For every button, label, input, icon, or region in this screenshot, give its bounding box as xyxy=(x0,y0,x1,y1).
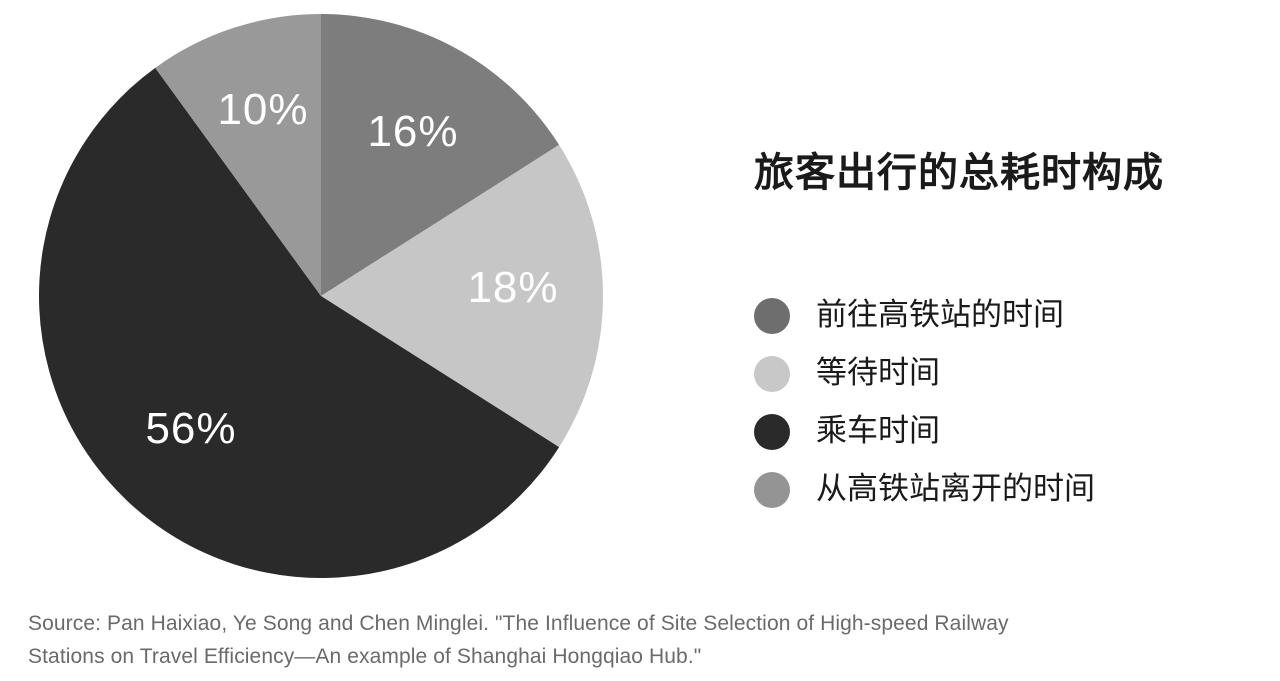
legend-item-1[interactable]: 等待时间 xyxy=(754,346,1274,401)
chart-info-panel: 旅客出行的总耗时构成 前往高铁站的时间 等待时间 乘车时间 从高铁站离开的时间 xyxy=(738,0,1280,590)
legend-label-2: 乘车时间 xyxy=(816,414,940,448)
source-line-2: Stations on Travel Efficiency—An example… xyxy=(28,641,1240,674)
chart-title: 旅客出行的总耗时构成 xyxy=(754,140,1164,198)
legend-item-3[interactable]: 从高铁站离开的时间 xyxy=(754,462,1274,517)
pie-slice-label-2: 56% xyxy=(145,404,236,453)
legend-swatch-icon-3 xyxy=(754,472,790,508)
legend-label-1: 等待时间 xyxy=(816,356,940,390)
legend-label-0: 前往高铁站的时间 xyxy=(816,298,1064,332)
pie-slice-label-1: 18% xyxy=(467,263,558,312)
pie-slice-label-3: 10% xyxy=(217,85,308,134)
pie-chart-svg: 16% 18% 56% 10% xyxy=(0,0,660,600)
chart-legend: 前往高铁站的时间 等待时间 乘车时间 从高铁站离开的时间 xyxy=(754,288,1274,520)
legend-item-2[interactable]: 乘车时间 xyxy=(754,404,1274,459)
pie-chart-figure: 16% 18% 56% 10% xyxy=(0,0,660,600)
legend-swatch-icon-1 xyxy=(754,356,790,392)
legend-swatch-icon-2 xyxy=(754,414,790,450)
source-line-1: Source: Pan Haixiao, Ye Song and Chen Mi… xyxy=(28,608,1240,641)
legend-item-0[interactable]: 前往高铁站的时间 xyxy=(754,288,1274,343)
pie-slice-label-0: 16% xyxy=(367,107,458,156)
legend-swatch-icon-0 xyxy=(754,298,790,334)
legend-label-3: 从高铁站离开的时间 xyxy=(816,472,1095,506)
source-citation: Source: Pan Haixiao, Ye Song and Chen Mi… xyxy=(28,608,1240,673)
